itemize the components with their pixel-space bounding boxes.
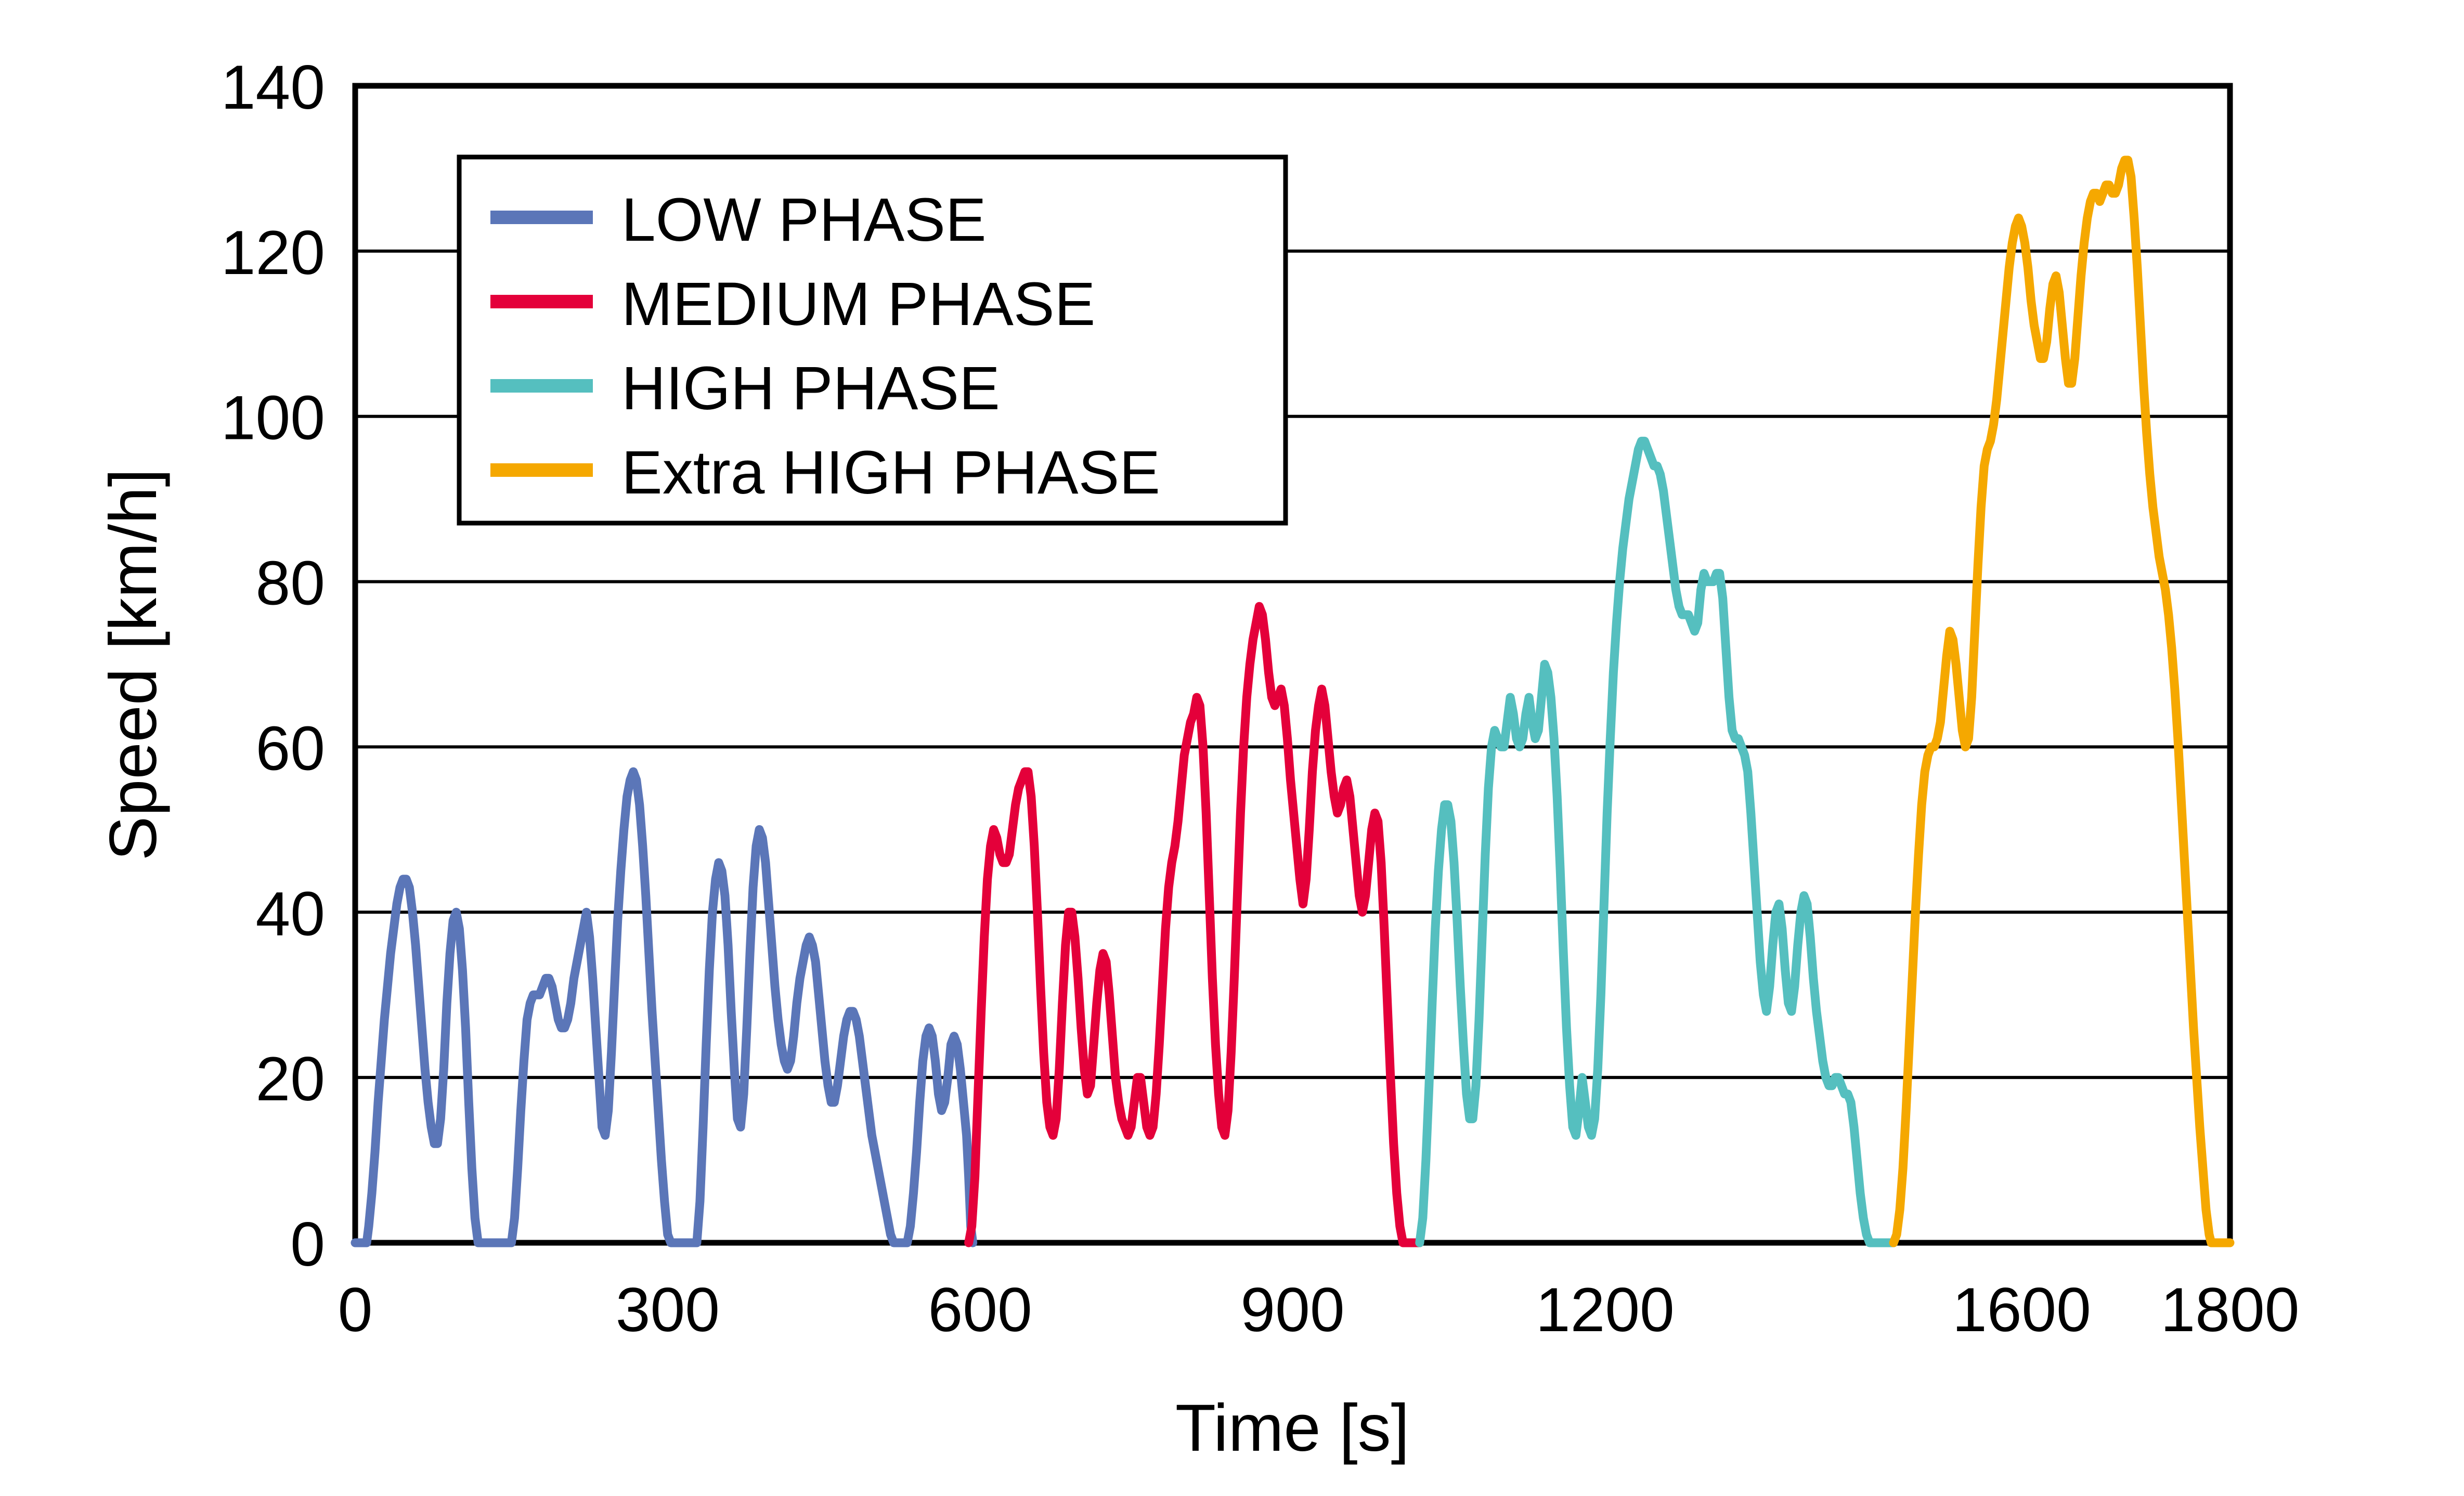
y-tick-label: 40 xyxy=(256,879,325,948)
y-tick-label: 140 xyxy=(221,53,325,122)
legend-label: LOW PHASE xyxy=(621,186,987,254)
x-tick-label: 900 xyxy=(1240,1275,1344,1345)
x-tick-label: 600 xyxy=(928,1275,1032,1345)
x-tick-label: 1200 xyxy=(1536,1275,1675,1345)
chart-container: 020406080100120140 030060090012001600180… xyxy=(0,0,2464,1496)
x-axis-tick-labels: 0300600900120016001800 xyxy=(338,1275,2300,1345)
y-axis-title: Speed [km/h] xyxy=(96,469,171,861)
y-tick-label: 60 xyxy=(256,713,325,783)
x-tick-label: 300 xyxy=(616,1275,720,1345)
x-axis-title: Time [s] xyxy=(1175,1391,1409,1465)
x-tick-label: 1800 xyxy=(2161,1275,2300,1345)
y-tick-label: 100 xyxy=(221,383,325,453)
y-tick-label: 0 xyxy=(290,1209,325,1279)
x-tick-label: 0 xyxy=(338,1275,373,1345)
x-tick-label: 1600 xyxy=(1952,1275,2091,1345)
legend-label: HIGH PHASE xyxy=(621,354,1000,423)
legend-label: MEDIUM PHASE xyxy=(621,270,1095,339)
y-tick-label: 120 xyxy=(221,218,325,288)
y-tick-label: 80 xyxy=(256,549,325,618)
legend: LOW PHASEMEDIUM PHASEHIGH PHASEExtra HIG… xyxy=(459,157,1286,523)
speed-vs-time-line-chart: 020406080100120140 030060090012001600180… xyxy=(0,0,2464,1496)
y-tick-label: 20 xyxy=(256,1044,325,1114)
legend-label: Extra HIGH PHASE xyxy=(621,438,1160,507)
